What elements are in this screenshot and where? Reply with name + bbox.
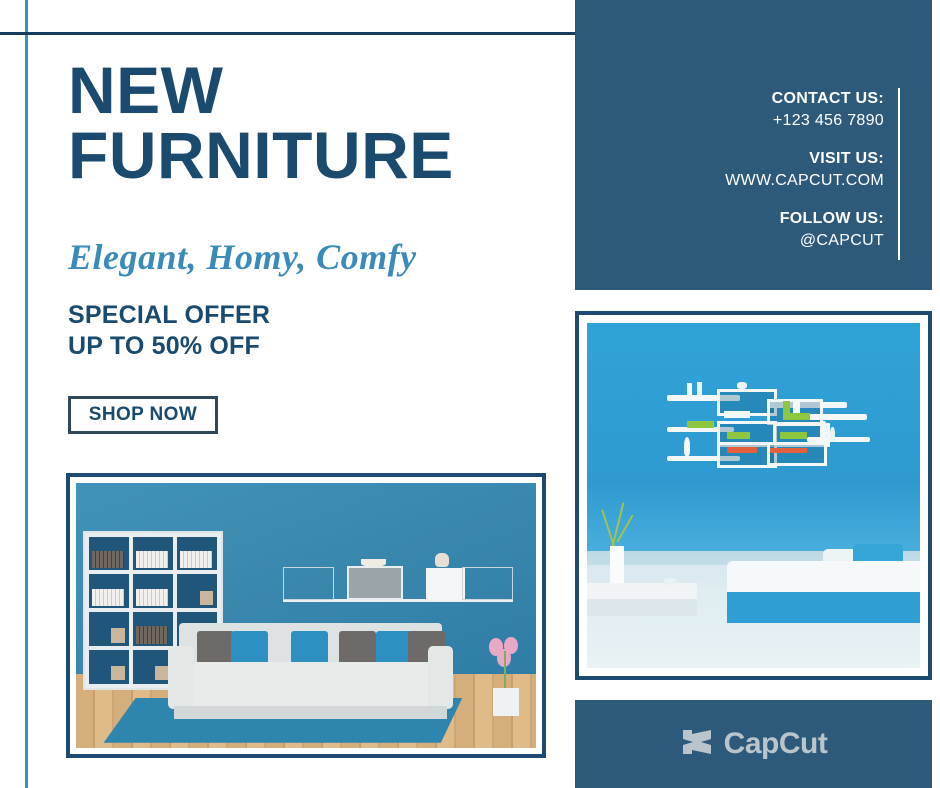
br-book-stack [724, 411, 751, 418]
visit-us-label: VISIT US: [725, 148, 884, 170]
bedroom-photo-frame [575, 311, 932, 680]
contact-us-label: CONTACT US: [725, 88, 884, 110]
contact-list: CONTACT US: +123 456 7890 VISIT US: WWW.… [725, 88, 884, 252]
br-decor-object [687, 383, 692, 395]
headline-line-1: NEW [68, 58, 538, 123]
br-book-stack [687, 421, 714, 428]
lr-plant [485, 637, 526, 717]
shop-now-button[interactable]: SHOP NOW [68, 396, 218, 434]
contact-divider-line [898, 88, 900, 260]
contact-group-phone: CONTACT US: +123 456 7890 [725, 88, 884, 131]
br-decor-object [793, 399, 800, 413]
contact-group-website: VISIT US: WWW.CAPCUT.COM [725, 148, 884, 191]
capcut-brand-footer: CapCut [575, 700, 932, 788]
br-book-stack [727, 447, 757, 453]
br-console-base [587, 599, 697, 616]
follow-us-label: FOLLOW US: [725, 208, 884, 230]
special-offer-text: SPECIAL OFFER UP TO 50% OFF [68, 300, 270, 363]
lr-wall-shelf [283, 565, 513, 602]
br-book-stack [783, 413, 810, 421]
capcut-wordmark: CapCut [724, 727, 828, 761]
br-book-stack [770, 448, 807, 453]
headline-line-2: FURNITURE [68, 123, 538, 188]
living-room-image [76, 483, 536, 748]
bedroom-image [587, 323, 920, 668]
br-vase [610, 546, 623, 584]
br-book-stack [727, 432, 750, 439]
left-content-column: NEW FURNITURE Elegant, Homy, Comfy SPECI… [0, 0, 570, 788]
br-decor-object [783, 401, 790, 413]
br-bed-base [727, 592, 920, 623]
br-shelf-box [767, 442, 827, 466]
phone-number[interactable]: +123 456 7890 [725, 110, 884, 132]
website-url[interactable]: WWW.CAPCUT.COM [725, 170, 884, 192]
page-title: NEW FURNITURE [68, 58, 538, 187]
br-bed-mattress [727, 561, 920, 596]
capcut-hourglass-icon [680, 727, 714, 762]
living-room-photo-frame [66, 473, 546, 758]
br-book-stack [780, 432, 807, 440]
contact-info-panel: CONTACT US: +123 456 7890 VISIT US: WWW.… [575, 0, 932, 290]
contact-group-social: FOLLOW US: @CAPCUT [725, 208, 884, 251]
br-decor-object [684, 437, 691, 456]
lr-sofa [168, 623, 453, 718]
shop-now-label: SHOP NOW [89, 404, 197, 426]
social-handle[interactable]: @CAPCUT [725, 230, 884, 252]
offer-line-2: UP TO 50% OFF [68, 331, 270, 362]
br-console-table [587, 583, 697, 599]
br-decor-object [664, 578, 677, 585]
br-shelf-bar [807, 414, 867, 420]
offer-line-1: SPECIAL OFFER [68, 300, 270, 331]
tagline: Elegant, Homy, Comfy [68, 236, 417, 278]
br-decor-object [697, 382, 702, 396]
br-decor-object [820, 421, 827, 442]
br-decor-object [737, 382, 747, 389]
